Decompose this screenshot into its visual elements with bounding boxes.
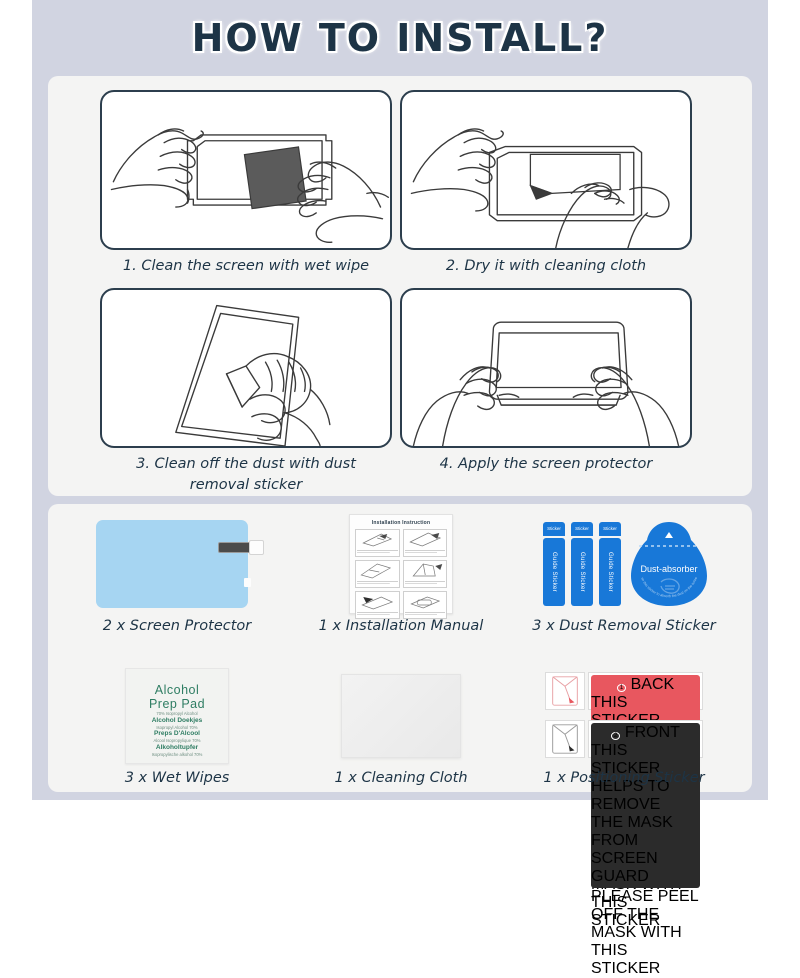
guide-sticker-label: Guide Sticker bbox=[579, 552, 585, 592]
protector-film-body bbox=[96, 520, 248, 608]
step-3-illustration bbox=[100, 288, 392, 448]
step-4-illustration bbox=[400, 288, 692, 448]
step-1-illustration bbox=[100, 90, 392, 250]
wipes-sub-1: Alcohol Doekjes bbox=[126, 717, 228, 725]
front-label-footnote: PLEASE PEEL OFF THE MASK WITH THIS STICK… bbox=[591, 888, 700, 978]
guide-sticker: Sticker Guide Sticker bbox=[543, 522, 565, 606]
wipes-sub-3: Preps D'Alcool bbox=[126, 730, 228, 738]
manual-panel bbox=[403, 529, 448, 557]
guide-sticker-body: Guide Sticker bbox=[599, 538, 621, 606]
positioning-sticker-art: 1 BACK THIS STICKER HELPS TO REMOVE THE … bbox=[518, 666, 730, 766]
guide-sticker-label: Guide Sticker bbox=[551, 552, 557, 592]
manual-title: Installation Instruction bbox=[355, 520, 447, 526]
dust-removal-sticker-art: Sticker Guide Sticker Sticker Guide Stic… bbox=[518, 514, 730, 614]
manual-panel bbox=[355, 560, 400, 588]
manual-panel bbox=[355, 591, 400, 619]
wipes-line-1: Alcohol bbox=[126, 683, 228, 697]
protector-notch bbox=[244, 578, 251, 587]
back-label-icon bbox=[545, 672, 585, 710]
dust-absorber-label: Dust-absorber bbox=[640, 564, 697, 574]
screen-protector-film bbox=[96, 514, 258, 614]
content-item-caption: 2 x Screen Protector bbox=[58, 618, 296, 634]
step-2-illustration bbox=[400, 90, 692, 250]
guide-sticker-body: Guide Sticker bbox=[543, 538, 565, 606]
front-label-sub2: THE MASK FROM SCREEN GUARD bbox=[591, 814, 700, 886]
front-label-text: FRONT bbox=[625, 724, 680, 741]
back-label-number: 1 bbox=[617, 684, 626, 692]
manual-panel bbox=[355, 529, 400, 557]
front-label-number: 2 bbox=[611, 732, 620, 740]
content-item-caption: 1 x Installation Manual bbox=[282, 618, 520, 634]
front-label-title: 2 FRONT bbox=[611, 724, 680, 742]
manual-panel-text bbox=[405, 611, 446, 617]
positioning-sticker-group: 1 BACK THIS STICKER HELPS TO REMOVE THE … bbox=[545, 670, 703, 762]
manual-panel bbox=[403, 560, 448, 588]
content-item-caption: 1 x Positioning Sticker bbox=[504, 770, 744, 786]
microfiber-cloth bbox=[341, 674, 461, 758]
alcohol-prep-pad-packet: Alcohol Prep Pad 70% Isopropyl Alcohol A… bbox=[125, 668, 229, 764]
back-label-text: BACK bbox=[631, 676, 675, 693]
step-4-caption: 4. Apply the screen protector bbox=[390, 454, 702, 475]
guide-sticker-body: Guide Sticker bbox=[571, 538, 593, 606]
manual-panel-text bbox=[357, 549, 398, 555]
manual-panel-text bbox=[357, 611, 398, 617]
page-title: HOW TO INSTALL? bbox=[192, 16, 609, 60]
guide-sticker: Sticker Guide Sticker bbox=[571, 522, 593, 606]
manual-panel-grid bbox=[355, 529, 447, 619]
content-item-caption: 3 x Dust Removal Sticker bbox=[504, 618, 744, 634]
guide-sticker-head: Sticker bbox=[543, 522, 565, 536]
protector-pull-tab bbox=[218, 542, 256, 553]
positioning-label-back: 1 BACK THIS STICKER HELPS TO REMOVE THE … bbox=[545, 672, 703, 710]
wet-wipes-art: Alcohol Prep Pad 70% Isopropyl Alcohol A… bbox=[72, 666, 282, 766]
content-item-caption: 1 x Cleaning Cloth bbox=[282, 770, 520, 786]
poster-root: HOW TO INSTALL? bbox=[0, 0, 800, 800]
wipes-sub-6: Isopropylische alkohol 70% bbox=[126, 752, 228, 758]
dust-absorber: Dust-absorber Use this sticker to absorb… bbox=[631, 520, 707, 608]
step-3-caption: 3. Clean off the dust with dust removal … bbox=[90, 454, 402, 496]
guide-sticker-label: Guide Sticker bbox=[607, 552, 613, 592]
dust-sticker-group: Sticker Guide Sticker Sticker Guide Stic… bbox=[539, 514, 709, 614]
guide-sticker: Sticker Guide Sticker bbox=[599, 522, 621, 606]
guide-sticker-head: Sticker bbox=[599, 522, 621, 536]
guide-sticker-head: Sticker bbox=[571, 522, 593, 536]
front-label-icon bbox=[545, 720, 585, 758]
back-label-title: 1 BACK bbox=[617, 676, 674, 694]
step-2-caption: 2. Dry it with cleaning cloth bbox=[390, 256, 702, 277]
wipes-line-2: Prep Pad bbox=[126, 697, 228, 711]
cleaning-cloth-art bbox=[296, 666, 506, 766]
package-contents-card: 2 x Screen Protector Installation Instru… bbox=[48, 504, 752, 792]
front-label-bar: 2 FRONT THIS STICKER HELPS TO REMOVE THE… bbox=[591, 723, 700, 888]
wipes-sub-5: Alkoholtupfer bbox=[126, 744, 228, 752]
installation-manual-art: Installation Instruction bbox=[296, 514, 506, 614]
content-item-caption: 3 x Wet Wipes bbox=[58, 770, 296, 786]
front-label-body: 2 FRONT THIS STICKER HELPS TO REMOVE THE… bbox=[588, 720, 703, 758]
manual-panel bbox=[403, 591, 448, 619]
step-1-caption: 1. Clean the screen with wet wipe bbox=[90, 256, 402, 277]
manual-sheet: Installation Instruction bbox=[349, 514, 453, 614]
manual-panel-text bbox=[405, 549, 446, 555]
manual-panel-text bbox=[405, 580, 446, 586]
page-title-container: HOW TO INSTALL? bbox=[32, 0, 768, 76]
screen-protector-art bbox=[72, 514, 282, 614]
manual-panel-text bbox=[357, 580, 398, 586]
back-label-body: 1 BACK THIS STICKER HELPS TO REMOVE THE … bbox=[588, 672, 703, 710]
positioning-label-front: 2 FRONT THIS STICKER HELPS TO REMOVE THE… bbox=[545, 720, 703, 758]
steps-card: 1. Clean the screen with wet wipe bbox=[48, 76, 752, 496]
